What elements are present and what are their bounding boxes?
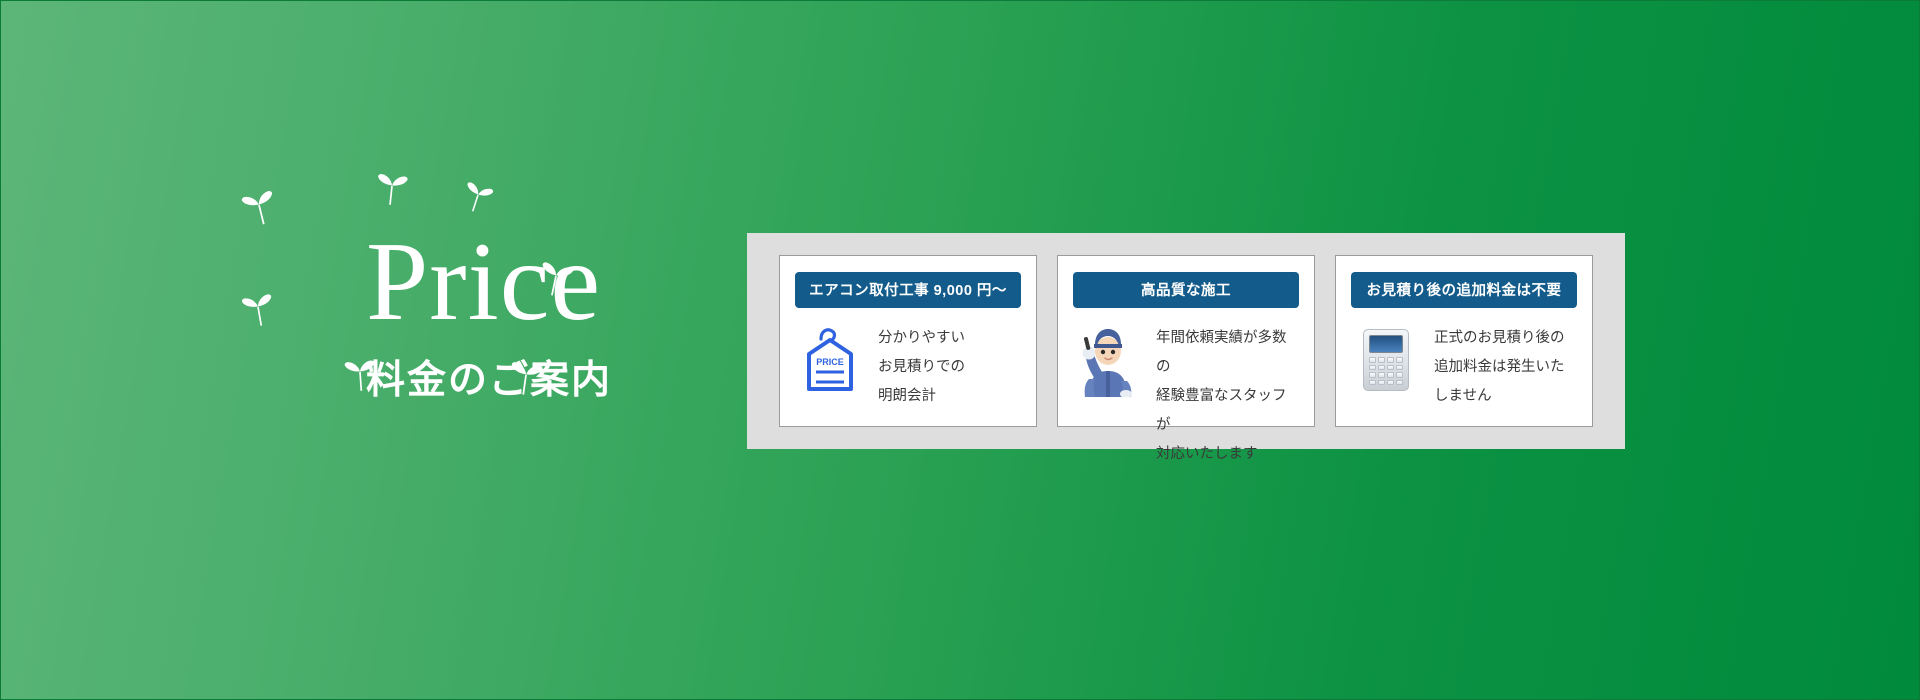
price-tag-icon: PRICE [799, 325, 861, 395]
worker-illustration-icon [1075, 323, 1141, 397]
feature-card-1: エアコン取付工事 9,000 円〜PRICE分かりやすい お見積りでの 明朗会計 [779, 255, 1037, 427]
calculator-icon [1363, 329, 1409, 391]
feature-card-badge: エアコン取付工事 9,000 円〜 [795, 272, 1021, 308]
price-tag-icon: PRICE [794, 322, 866, 398]
features-panel: エアコン取付工事 9,000 円〜PRICE分かりやすい お見積りでの 明朗会計… [747, 233, 1625, 449]
feature-card-2: 高品質な施工年間依頼実績が多数の 経験豊富なスタッフが 対応いたします [1057, 255, 1315, 427]
calculator-keys [1369, 357, 1403, 385]
features-card-list: エアコン取付工事 9,000 円〜PRICE分かりやすい お見積りでの 明朗会計… [779, 255, 1593, 427]
calculator-icon [1350, 322, 1422, 398]
calculator-screen [1369, 335, 1403, 353]
svg-text:PRICE: PRICE [816, 357, 844, 367]
feature-card-badge: お見積り後の追加料金は不要 [1351, 272, 1577, 308]
feature-card-text: 年間依頼実績が多数の 経験豊富なスタッフが 対応いたします [1156, 322, 1300, 469]
feature-card-badge: 高品質な施工 [1073, 272, 1299, 308]
feature-card-body: PRICE分かりやすい お見積りでの 明朗会計 [780, 322, 1036, 411]
page-subtitle: 料金のご案内 [366, 349, 612, 405]
feature-card-text: 分かりやすい お見積りでの 明朗会計 [878, 322, 965, 411]
worker-illustration-icon [1072, 322, 1144, 398]
feature-card-3: お見積り後の追加料金は不要正式のお見積り後の 追加料金は発生いた しません [1335, 255, 1593, 427]
hero-block: Price 料金のご案内 [271, 191, 721, 471]
feature-card-text: 正式のお見積り後の 追加料金は発生いた しません [1434, 322, 1565, 411]
feature-card-body: 正式のお見積り後の 追加料金は発生いた しません [1336, 322, 1592, 411]
page-title: Price [366, 226, 601, 338]
price-hero-banner: Price 料金のご案内 エアコン取付工事 9,000 円〜PRICE分かりやす… [0, 0, 1920, 700]
feature-card-body: 年間依頼実績が多数の 経験豊富なスタッフが 対応いたします [1058, 322, 1314, 469]
